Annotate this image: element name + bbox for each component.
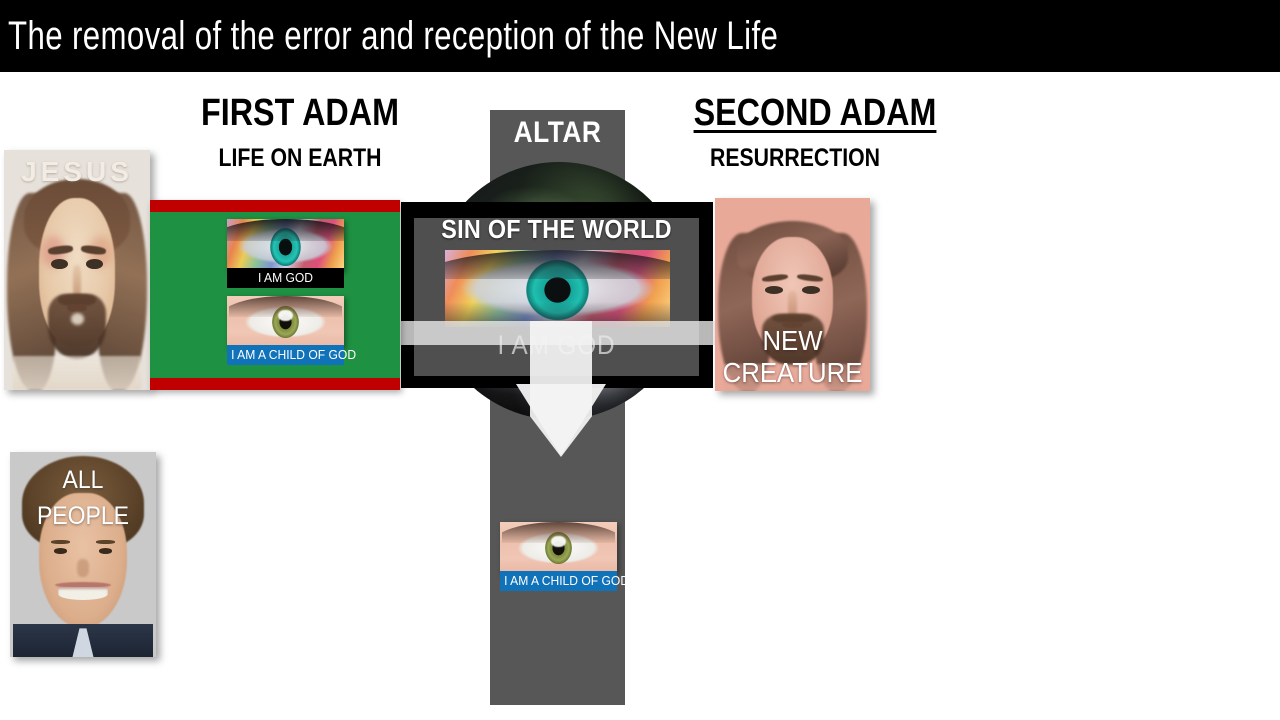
tile-i-am-god bbox=[227, 219, 344, 271]
all-people-card: ALL PEOPLE bbox=[10, 452, 156, 657]
heading-second-adam: SECOND ADAM bbox=[688, 92, 943, 135]
sin-of-world-label: SIN OF THE WORLD bbox=[428, 214, 685, 245]
heading-first-adam: FIRST ADAM bbox=[173, 92, 428, 135]
tile-child-caption: I AM A CHILD OF GOD bbox=[231, 345, 340, 365]
natural-eye-icon bbox=[227, 296, 344, 348]
slide-canvas: The removal of the error and reception o… bbox=[0, 0, 1280, 720]
new-creature-line1: NEW bbox=[762, 325, 822, 356]
new-creature-line2: CREATURE bbox=[723, 357, 863, 388]
title-bar: The removal of the error and reception o… bbox=[0, 0, 1280, 72]
page-title: The removal of the error and reception o… bbox=[8, 8, 778, 64]
colorful-eye-icon bbox=[445, 250, 670, 327]
tile-bottom-caption: I AM A CHILD OF GOD bbox=[504, 571, 613, 591]
new-creature-label: NEW CREATURE bbox=[721, 325, 864, 389]
all-people-line2: PEOPLE bbox=[37, 502, 129, 530]
altar-label: ALTAR bbox=[498, 116, 617, 150]
colorful-eye-icon bbox=[227, 219, 344, 271]
natural-eye-icon bbox=[500, 522, 617, 574]
tile-i-am-a-child-of-god bbox=[227, 296, 344, 348]
all-people-label: ALL PEOPLE bbox=[16, 462, 150, 534]
jesus-card-right: NEW CREATURE bbox=[715, 198, 870, 391]
jesus-label: JESUS bbox=[4, 156, 150, 188]
heading-first-adam-subtitle: LIFE ON EARTH bbox=[173, 144, 428, 173]
tile-i-am-god-caption: I AM GOD bbox=[231, 268, 340, 288]
heading-second-adam-subtitle: RESURRECTION bbox=[668, 144, 923, 173]
green-panel-top-bar bbox=[150, 200, 400, 212]
all-people-line1: ALL bbox=[63, 466, 104, 494]
green-panel-bottom-bar bbox=[150, 378, 400, 390]
tile-bottom-child-of-god bbox=[500, 522, 617, 574]
jesus-card-left: JESUS bbox=[4, 150, 150, 390]
